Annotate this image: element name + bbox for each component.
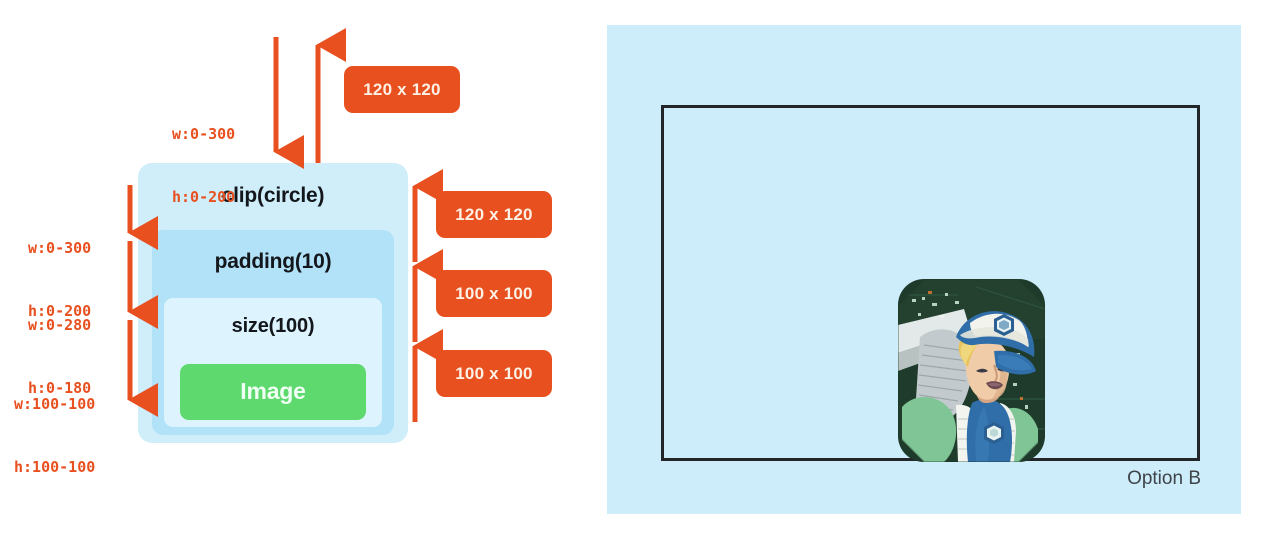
constraint-size-width: w:100-100 [14,394,95,415]
constraint-top-height: h:0-200 [172,187,235,208]
layer-label-padding: padding(10) [152,250,394,274]
layer-label-size: size(100) [164,315,382,338]
avatar-clip-shape [898,279,1045,462]
constraint-clip-width: w:0-300 [28,238,91,259]
size-badge-top: 120 x 120 [344,66,460,113]
preview-panel: Option B [607,25,1241,514]
layout-constraints-diagram: clip(circle) padding(10) size(100) Image [0,0,600,534]
character-avatar-icon [898,279,1045,462]
size-badge-clip: 120 x 120 [436,191,552,238]
size-badge-padding: 100 x 100 [436,270,552,317]
avatar [898,279,1045,462]
layer-box-image: Image [180,364,366,420]
constraint-text-top: w:0-300 h:0-200 [172,82,235,250]
option-caption: Option B [1127,468,1201,490]
size-badge-size: 100 x 100 [436,350,552,397]
layer-label-image: Image [180,378,366,405]
constraint-size-height: h:100-100 [14,457,95,478]
constraint-top-width: w:0-300 [172,124,235,145]
preview-frame [661,105,1200,461]
constraint-padding-width: w:0-280 [28,315,91,336]
constraint-text-size: w:100-100 h:100-100 [14,352,95,520]
diagram-stage: clip(circle) padding(10) size(100) Image [0,0,1272,534]
